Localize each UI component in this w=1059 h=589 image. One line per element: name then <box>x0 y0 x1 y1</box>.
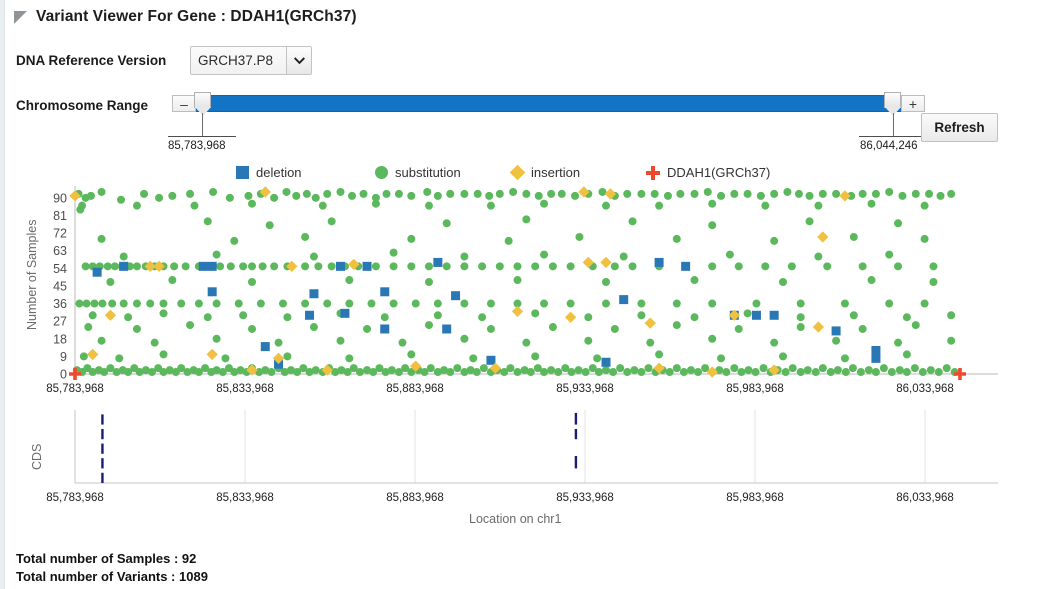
variant-point-substitution[interactable] <box>443 262 451 270</box>
variant-point-substitution[interactable] <box>788 262 796 270</box>
variant-point-insertion[interactable] <box>207 349 218 360</box>
variant-point-substitution[interactable] <box>301 300 309 308</box>
variant-point-substitution[interactable] <box>363 325 371 333</box>
variant-point-substitution[interactable] <box>602 278 610 286</box>
variant-point-substitution[interactable] <box>929 278 937 286</box>
variant-point-substitution[interactable] <box>434 300 442 308</box>
variant-point-substitution[interactable] <box>691 276 699 284</box>
variant-point-substitution[interactable] <box>213 251 221 259</box>
variant-point-substitution[interactable] <box>894 262 902 270</box>
variant-point-substitution[interactable] <box>372 200 380 208</box>
variant-point-substitution[interactable] <box>283 313 291 321</box>
variant-point-substitution[interactable] <box>244 192 252 200</box>
variant-point-substitution[interactable] <box>857 368 865 376</box>
variant-point-substitution[interactable] <box>760 364 768 372</box>
variant-point-substitution[interactable] <box>78 202 86 210</box>
variant-point-substitution[interactable] <box>460 300 468 308</box>
variant-point-substitution[interactable] <box>487 202 495 210</box>
variant-point-substitution[interactable] <box>841 354 849 362</box>
variant-point-substitution[interactable] <box>611 262 619 270</box>
variant-point-substitution[interactable] <box>925 190 933 198</box>
variant-point-substitution[interactable] <box>789 364 797 372</box>
variant-point-substitution[interactable] <box>407 350 415 358</box>
variant-point-substitution[interactable] <box>708 262 716 270</box>
variant-point-substitution[interactable] <box>446 190 454 198</box>
variant-point-substitution[interactable] <box>160 309 168 317</box>
variant-point-substitution[interactable] <box>859 325 867 333</box>
variant-point-substitution[interactable] <box>691 313 699 321</box>
variant-point-substitution[interactable] <box>388 366 396 374</box>
variant-point-substitution[interactable] <box>761 202 769 210</box>
variant-point-substitution[interactable] <box>549 262 557 270</box>
variant-point-substitution[interactable] <box>312 366 320 374</box>
variant-point-substitution[interactable] <box>425 278 433 286</box>
variant-point-substitution[interactable] <box>927 366 935 374</box>
legend-item-deletion[interactable]: deletion <box>236 165 302 180</box>
variant-point-substitution[interactable] <box>921 235 929 243</box>
variant-point-substitution[interactable] <box>108 300 116 308</box>
variant-point-substitution[interactable] <box>797 300 805 308</box>
variant-point-substitution[interactable] <box>593 354 601 362</box>
variant-point-substitution[interactable] <box>303 190 311 198</box>
variant-point-substitution[interactable] <box>531 352 539 360</box>
variant-point-deletion[interactable] <box>119 262 128 271</box>
variant-point-substitution[interactable] <box>270 262 278 270</box>
variant-point-substitution[interactable] <box>310 253 318 261</box>
variant-point-substitution[interactable] <box>547 366 555 374</box>
variant-point-substitution[interactable] <box>722 368 730 376</box>
variant-point-substitution[interactable] <box>239 262 247 270</box>
variant-point-substitution[interactable] <box>514 368 522 376</box>
variant-point-substitution[interactable] <box>133 202 141 210</box>
variant-point-substitution[interactable] <box>673 321 681 329</box>
variant-point-substitution[interactable] <box>90 300 98 308</box>
variant-point-substitution[interactable] <box>345 300 353 308</box>
variant-point-substitution[interactable] <box>819 190 827 198</box>
variant-point-substitution[interactable] <box>151 339 159 347</box>
variant-point-substitution[interactable] <box>540 300 548 308</box>
variant-point-deletion[interactable] <box>208 262 217 271</box>
variant-point-substitution[interactable] <box>673 235 681 243</box>
variant-point-substitution[interactable] <box>804 366 812 374</box>
variant-point-substitution[interactable] <box>611 325 619 333</box>
variant-point-substitution[interactable] <box>407 235 415 243</box>
variant-point-substitution[interactable] <box>947 311 955 319</box>
variant-point-substitution[interactable] <box>602 366 610 374</box>
variant-point-substitution[interactable] <box>655 202 663 210</box>
triangle-collapse-icon[interactable] <box>14 11 27 24</box>
variant-point-substitution[interactable] <box>717 354 725 362</box>
variant-point-substitution[interactable] <box>117 196 125 204</box>
variant-point-substitution[interactable] <box>140 190 148 198</box>
variant-point-substitution[interactable] <box>496 190 504 198</box>
variant-point-substitution[interactable] <box>779 352 787 360</box>
variant-point-substitution[interactable] <box>812 368 820 376</box>
variant-point-deletion[interactable] <box>380 324 389 333</box>
variant-point-substitution[interactable] <box>395 190 403 198</box>
variant-point-substitution[interactable] <box>602 300 610 308</box>
variant-point-substitution[interactable] <box>133 262 141 270</box>
variant-point-substitution[interactable] <box>602 202 610 210</box>
variant-point-substitution[interactable] <box>673 300 681 308</box>
variant-point-substitution[interactable] <box>708 300 716 308</box>
chevron-down-icon[interactable] <box>286 47 311 74</box>
variant-point-substitution[interactable] <box>120 253 128 261</box>
variant-point-substitution[interactable] <box>637 368 645 376</box>
variant-point-substitution[interactable] <box>868 276 876 284</box>
variant-point-substitution[interactable] <box>226 194 234 202</box>
variant-point-substitution[interactable] <box>279 300 287 308</box>
variant-point-substitution[interactable] <box>691 190 699 198</box>
variant-point-substitution[interactable] <box>155 194 163 202</box>
variant-point-substitution[interactable] <box>283 188 291 196</box>
variant-point-insertion[interactable] <box>512 306 523 317</box>
variant-point-substitution[interactable] <box>221 354 229 362</box>
variant-point-substitution[interactable] <box>832 337 840 345</box>
legend-item-substitution[interactable]: substitution <box>375 165 461 180</box>
variant-point-substitution[interactable] <box>744 309 752 317</box>
variant-point-substitution[interactable] <box>446 368 454 376</box>
variant-point-insertion[interactable] <box>839 190 850 201</box>
variant-point-substitution[interactable] <box>584 313 592 321</box>
variant-point-substitution[interactable] <box>911 364 919 372</box>
variant-point-substitution[interactable] <box>637 311 645 319</box>
variant-point-substitution[interactable] <box>770 237 778 245</box>
variant-point-substitution[interactable] <box>947 190 955 198</box>
variant-point-insertion[interactable] <box>600 257 611 268</box>
variant-point-substitution[interactable] <box>872 368 880 376</box>
variant-point-substitution[interactable] <box>328 217 336 225</box>
variant-point-substitution[interactable] <box>651 190 659 198</box>
variant-point-substitution[interactable] <box>888 368 896 376</box>
variant-point-substitution[interactable] <box>880 364 888 372</box>
variant-point-deletion[interactable] <box>451 291 460 300</box>
dna-reference-select[interactable]: GRCH37.P8 <box>190 46 312 75</box>
variant-point-substitution[interactable] <box>323 300 331 308</box>
variant-point-substitution[interactable] <box>87 192 95 200</box>
variant-point-substitution[interactable] <box>744 366 752 374</box>
variant-point-substitution[interactable] <box>885 300 893 308</box>
variant-point-substitution[interactable] <box>708 221 716 229</box>
variant-point-substitution[interactable] <box>865 366 873 374</box>
variant-point-substitution[interactable] <box>673 364 681 372</box>
variant-point-substitution[interactable] <box>609 368 617 376</box>
variant-point-substitution[interactable] <box>337 337 345 345</box>
variant-point-substitution[interactable] <box>770 190 778 198</box>
variant-point-deletion[interactable] <box>871 346 880 355</box>
variant-point-substitution[interactable] <box>814 202 822 210</box>
variant-point-substitution[interactable] <box>676 190 684 198</box>
variant-point-substitution[interactable] <box>571 192 579 200</box>
variant-point-substitution[interactable] <box>115 354 123 362</box>
variant-point-substitution[interactable] <box>248 262 256 270</box>
variant-point-substitution[interactable] <box>425 202 433 210</box>
refresh-button[interactable]: Refresh <box>921 113 998 142</box>
variant-point-substitution[interactable] <box>726 251 734 259</box>
variant-point-substitution[interactable] <box>782 368 790 376</box>
variant-point-substitution[interactable] <box>912 321 920 329</box>
variant-point-substitution[interactable] <box>623 368 631 376</box>
variant-point-substitution[interactable] <box>549 323 557 331</box>
variant-point-deletion[interactable] <box>261 342 270 351</box>
variant-point-substitution[interactable] <box>82 262 90 270</box>
variant-point-substitution[interactable] <box>584 337 592 345</box>
variant-point-insertion[interactable] <box>817 231 828 242</box>
variant-point-substitution[interactable] <box>460 190 468 198</box>
variant-point-substitution[interactable] <box>505 237 513 245</box>
variant-point-substitution[interactable] <box>646 339 654 347</box>
variant-point-deletion[interactable] <box>619 295 628 304</box>
variant-point-insertion[interactable] <box>87 349 98 360</box>
variant-point-substitution[interactable] <box>480 364 488 372</box>
variant-point-substitution[interactable] <box>310 323 318 331</box>
variant-point-deletion[interactable] <box>770 311 779 320</box>
variant-point-substitution[interactable] <box>903 350 911 358</box>
variant-point-substitution[interactable] <box>204 313 212 321</box>
variant-point-substitution[interactable] <box>453 364 461 372</box>
variant-point-substitution[interactable] <box>595 368 603 376</box>
variant-point-substitution[interactable] <box>666 368 674 376</box>
variant-point-substitution[interactable] <box>427 364 435 372</box>
variant-point-substitution[interactable] <box>616 364 624 372</box>
variant-point-substitution[interactable] <box>216 262 224 270</box>
variant-point-substitution[interactable] <box>885 251 893 259</box>
variant-point-substitution[interactable] <box>896 366 904 374</box>
variant-point-substitution[interactable] <box>168 276 176 284</box>
variant-point-substitution[interactable] <box>827 368 835 376</box>
variant-point-substitution[interactable] <box>104 262 112 270</box>
variant-point-substitution[interactable] <box>752 300 760 308</box>
variant-point-substitution[interactable] <box>912 190 920 198</box>
variant-point-substitution[interactable] <box>547 190 555 198</box>
variant-point-substitution[interactable] <box>360 190 368 198</box>
variant-point-substitution[interactable] <box>98 337 106 345</box>
variant-point-substitution[interactable] <box>554 368 562 376</box>
variant-point-substitution[interactable] <box>814 253 822 261</box>
variant-point-insertion[interactable] <box>645 317 656 328</box>
variant-point-substitution[interactable] <box>522 339 530 347</box>
variant-point-substitution[interactable] <box>120 300 128 308</box>
variant-point-substitution[interactable] <box>195 300 203 308</box>
variant-point-substitution[interactable] <box>345 276 353 284</box>
variant-point-substitution[interactable] <box>390 249 398 257</box>
variant-point-substitution[interactable] <box>898 192 906 200</box>
variant-point-substitution[interactable] <box>535 192 543 200</box>
variant-point-substitution[interactable] <box>239 311 247 319</box>
variant-point-substitution[interactable] <box>522 190 530 198</box>
variant-point-substitution[interactable] <box>485 192 493 200</box>
variant-point-substitution[interactable] <box>644 364 652 372</box>
variant-point-substitution[interactable] <box>735 325 743 333</box>
variant-point-substitution[interactable] <box>527 368 535 376</box>
variant-point-substitution[interactable] <box>213 300 221 308</box>
variant-point-substitution[interactable] <box>623 190 631 198</box>
variant-point-substitution[interactable] <box>98 235 106 243</box>
variant-point-substitution[interactable] <box>186 321 194 329</box>
variant-point-substitution[interactable] <box>730 364 738 372</box>
variant-point-substitution[interactable] <box>460 253 468 261</box>
variant-point-substitution[interactable] <box>806 217 814 225</box>
variant-point-substitution[interactable] <box>213 335 221 343</box>
variant-point-substitution[interactable] <box>412 300 420 308</box>
variant-point-substitution[interactable] <box>850 233 858 241</box>
variant-point-substitution[interactable] <box>270 194 278 202</box>
variant-point-substitution[interactable] <box>98 300 106 308</box>
variant-point-substitution[interactable] <box>947 337 955 345</box>
variant-point-substitution[interactable] <box>89 311 97 319</box>
variant-point-substitution[interactable] <box>757 192 765 200</box>
variant-point-substitution[interactable] <box>717 192 725 200</box>
variant-point-substitution[interactable] <box>177 300 185 308</box>
variant-point-substitution[interactable] <box>328 262 336 270</box>
variant-point-deletion[interactable] <box>93 268 102 277</box>
variant-point-substitution[interactable] <box>935 368 943 376</box>
variant-point-substitution[interactable] <box>872 190 880 198</box>
variant-point-substitution[interactable] <box>407 262 415 270</box>
variant-point-substitution[interactable] <box>248 325 256 333</box>
variant-point-substitution[interactable] <box>567 300 575 308</box>
variant-point-substitution[interactable] <box>832 190 840 198</box>
variant-point-substitution[interactable] <box>620 253 628 261</box>
variant-point-substitution[interactable] <box>469 354 477 362</box>
variant-point-substitution[interactable] <box>83 300 91 308</box>
variant-point-substitution[interactable] <box>795 190 803 198</box>
variant-point-substitution[interactable] <box>629 217 637 225</box>
variant-point-substitution[interactable] <box>227 262 235 270</box>
variant-point-substitution[interactable] <box>598 188 606 196</box>
variant-point-substitution[interactable] <box>80 352 88 360</box>
variant-point-deletion[interactable] <box>442 324 451 333</box>
variant-point-substitution[interactable] <box>425 262 433 270</box>
variant-point-substitution[interactable] <box>567 368 575 376</box>
variant-point-substitution[interactable] <box>885 188 893 196</box>
variant-point-substitution[interactable] <box>629 262 637 270</box>
variant-point-deletion[interactable] <box>305 311 314 320</box>
variant-point-substitution[interactable] <box>390 262 398 270</box>
legend-item-insertion[interactable]: insertion <box>511 165 580 180</box>
variant-point-substitution[interactable] <box>783 188 791 196</box>
variant-point-substitution[interactable] <box>319 202 327 210</box>
zoom-in-button[interactable]: + <box>901 95 925 112</box>
variant-point-deletion[interactable] <box>655 258 664 267</box>
variant-point-substitution[interactable] <box>160 300 168 308</box>
variant-point-substitution[interactable] <box>190 202 198 210</box>
variant-point-deletion[interactable] <box>433 258 442 267</box>
variant-point-substitution[interactable] <box>345 354 353 362</box>
variant-point-substitution[interactable] <box>737 368 745 376</box>
variant-point-substitution[interactable] <box>84 323 92 331</box>
variant-point-substitution[interactable] <box>312 194 320 202</box>
variant-scatter-chart[interactable]: 0918273645546372819085,783,96885,833,968… <box>0 182 1000 397</box>
variant-point-substitution[interactable] <box>124 313 132 321</box>
zoom-out-button[interactable]: – <box>172 95 196 112</box>
variant-point-substitution[interactable] <box>367 300 375 308</box>
variant-point-substitution[interactable] <box>337 188 345 196</box>
variant-point-substitution[interactable] <box>531 309 539 317</box>
variant-point-substitution[interactable] <box>478 313 486 321</box>
variant-point-substitution[interactable] <box>531 262 539 270</box>
variant-point-deletion[interactable] <box>309 289 318 298</box>
variant-point-substitution[interactable] <box>314 262 322 270</box>
variant-point-substitution[interactable] <box>929 262 937 270</box>
variant-point-substitution[interactable] <box>301 233 309 241</box>
variant-point-deletion[interactable] <box>752 311 761 320</box>
variant-point-substitution[interactable] <box>575 233 583 241</box>
variant-point-substitution[interactable] <box>797 368 805 376</box>
variant-point-substitution[interactable] <box>921 300 929 308</box>
variant-point-substitution[interactable] <box>664 192 672 200</box>
variant-point-substitution[interactable] <box>98 188 106 196</box>
variant-point-substitution[interactable] <box>894 219 902 227</box>
variant-point-substitution[interactable] <box>834 366 842 374</box>
variant-point-substitution[interactable] <box>160 350 168 358</box>
variant-point-substitution[interactable] <box>894 339 902 347</box>
variant-point-substitution[interactable] <box>761 262 769 270</box>
variant-point-substitution[interactable] <box>133 325 141 333</box>
variant-point-deletion[interactable] <box>486 356 495 365</box>
variant-point-substitution[interactable] <box>348 192 356 200</box>
variant-point-substitution[interactable] <box>506 364 514 372</box>
variant-point-substitution[interactable] <box>267 368 275 376</box>
variant-point-deletion[interactable] <box>871 354 880 363</box>
variant-point-substitution[interactable] <box>474 190 482 198</box>
variant-point-substitution[interactable] <box>514 262 522 270</box>
variant-point-substitution[interactable] <box>680 368 688 376</box>
variant-point-substitution[interactable] <box>567 262 575 270</box>
variant-point-substitution[interactable] <box>514 276 522 284</box>
variant-point-substitution[interactable] <box>283 352 291 360</box>
variant-point-substitution[interactable] <box>903 313 911 321</box>
variant-point-substitution[interactable] <box>496 262 504 270</box>
variant-point-substitution[interactable] <box>841 300 849 308</box>
variant-point-substitution[interactable] <box>186 190 194 198</box>
legend-item-ddah1-grch37[interactable]: DDAH1(GRCh37) <box>646 165 770 180</box>
variant-point-substitution[interactable] <box>708 335 716 343</box>
variant-point-deletion[interactable] <box>602 358 611 367</box>
variant-point-substitution[interactable] <box>943 364 951 372</box>
variant-point-substitution[interactable] <box>209 188 217 196</box>
variant-point-substitution[interactable] <box>423 188 431 196</box>
variant-point-substitution[interactable] <box>655 350 663 358</box>
variant-point-substitution[interactable] <box>425 321 433 329</box>
variant-point-deletion[interactable] <box>832 326 841 335</box>
variant-point-substitution[interactable] <box>694 368 702 376</box>
variant-point-insertion[interactable] <box>813 321 824 332</box>
variant-point-substitution[interactable] <box>460 262 468 270</box>
variant-point-substitution[interactable] <box>443 219 451 227</box>
variant-point-substitution[interactable] <box>522 215 530 223</box>
variant-point-substitution[interactable] <box>301 262 309 270</box>
variant-point-deletion[interactable] <box>340 309 349 318</box>
variant-point-substitution[interactable] <box>779 278 787 286</box>
variant-point-substitution[interactable] <box>204 217 212 225</box>
variant-point-substitution[interactable] <box>558 190 566 198</box>
variant-point-substitution[interactable] <box>630 366 638 374</box>
variant-point-substitution[interactable] <box>903 368 911 376</box>
variant-point-substitution[interactable] <box>819 364 827 372</box>
variant-point-substitution[interactable] <box>487 300 495 308</box>
variant-point-substitution[interactable] <box>487 325 495 333</box>
variant-point-substitution[interactable] <box>168 192 176 200</box>
variant-point-substitution[interactable] <box>407 192 415 200</box>
variant-point-substitution[interactable] <box>540 251 548 259</box>
variant-point-deletion[interactable] <box>336 262 345 271</box>
variant-point-substitution[interactable] <box>744 190 752 198</box>
variant-point-substitution[interactable] <box>383 190 391 198</box>
variant-point-substitution[interactable] <box>106 278 114 286</box>
variant-point-substitution[interactable] <box>292 192 300 200</box>
variant-point-deletion[interactable] <box>380 287 389 296</box>
